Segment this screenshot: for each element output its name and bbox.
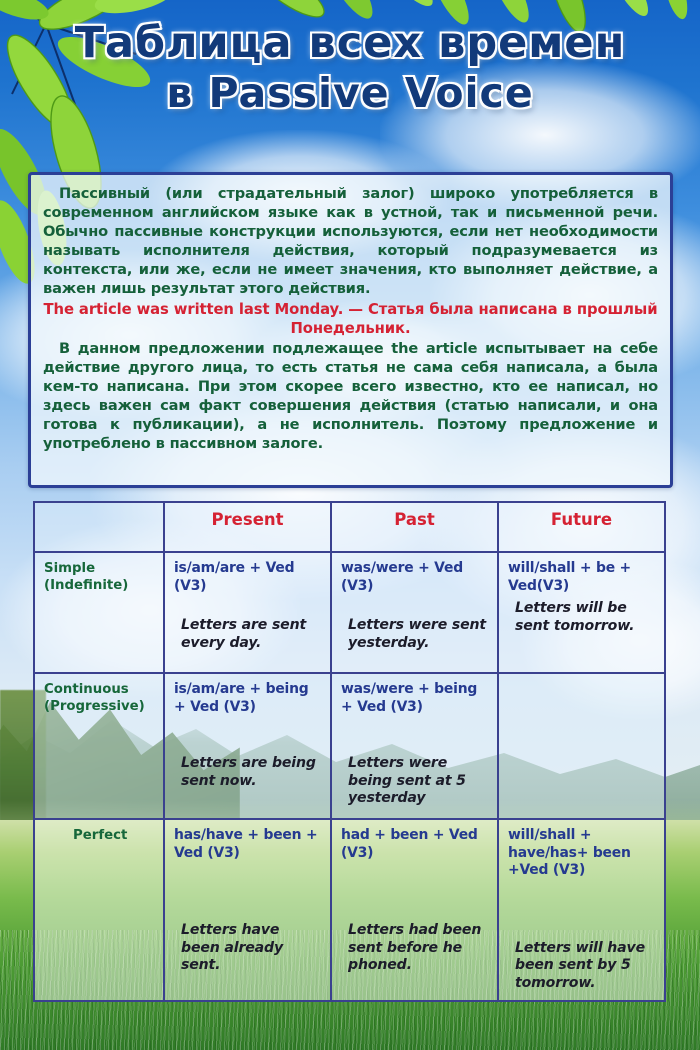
row-label-simple-line2: (Indefinite) bbox=[44, 577, 154, 594]
column-header-past: Past bbox=[331, 502, 498, 552]
cell-perfect-present: has/have + been + Ved (V3) Letters have … bbox=[164, 819, 331, 1001]
cell-simple-past: was/were + Ved (V3) Letters were sent ye… bbox=[331, 552, 498, 673]
title-line-2: в Passive Voice bbox=[0, 68, 700, 118]
cell-continuous-past: was/were + being + Ved (V3) Letters were… bbox=[331, 673, 498, 819]
row-label-continuous-line1: Continuous bbox=[44, 681, 154, 698]
row-label-perfect: Perfect bbox=[34, 819, 164, 1001]
example-simple-future: Letters will be sent tomorrow. bbox=[508, 600, 655, 635]
row-label-continuous: Continuous (Progressive) bbox=[34, 673, 164, 819]
cell-simple-future: will/shall + be + Ved(V3) Letters will b… bbox=[498, 552, 665, 673]
example-continuous-past: Letters were being sent at 5 yesterday bbox=[341, 755, 488, 808]
row-label-simple-line1: Simple bbox=[44, 560, 154, 577]
example-simple-past: Letters were sent yesterday. bbox=[341, 617, 488, 652]
example-perfect-present: Letters have been already sent. bbox=[174, 922, 321, 975]
cell-perfect-past: had + been + Ved (V3) Letters had been s… bbox=[331, 819, 498, 1001]
example-perfect-past: Letters had been sent before he phoned. bbox=[341, 922, 488, 975]
table-header-row: Present Past Future bbox=[34, 502, 665, 552]
formula-simple-present: is/am/are + Ved (V3) bbox=[174, 560, 321, 595]
formula-perfect-present: has/have + been + Ved (V3) bbox=[174, 827, 321, 862]
formula-perfect-future: will/shall + have/has+ been +Ved (V3) bbox=[508, 827, 655, 880]
formula-continuous-past: was/were + being + Ved (V3) bbox=[341, 681, 488, 716]
example-perfect-future: Letters will have been sent by 5 tomorro… bbox=[508, 940, 655, 993]
title-line-1: Таблица всех времен bbox=[0, 18, 700, 68]
row-label-simple: Simple (Indefinite) bbox=[34, 552, 164, 673]
table-row: Continuous (Progressive) is/am/are + bei… bbox=[34, 673, 665, 819]
poster-canvas: Таблица всех времен в Passive Voice Пасс… bbox=[0, 0, 700, 1050]
formula-continuous-present: is/am/are + being + Ved (V3) bbox=[174, 681, 321, 716]
formula-simple-past: was/were + Ved (V3) bbox=[341, 560, 488, 595]
intro-example-sentence: The article was written last Monday. — С… bbox=[43, 300, 658, 338]
passive-voice-tense-table: Present Past Future Simple (Indefinite) … bbox=[33, 501, 666, 1002]
column-header-future: Future bbox=[498, 502, 665, 552]
column-header-present: Present bbox=[164, 502, 331, 552]
intro-paragraph-2: В данном предложении подлежащее the arti… bbox=[43, 339, 658, 454]
table-corner-cell bbox=[34, 502, 164, 552]
cell-simple-present: is/am/are + Ved (V3) Letters are sent ev… bbox=[164, 552, 331, 673]
page-title: Таблица всех времен в Passive Voice bbox=[0, 18, 700, 118]
cell-continuous-future-empty bbox=[498, 673, 665, 819]
intro-paragraph-1: Пассивный (или страдательный залог) широ… bbox=[43, 184, 658, 299]
cell-continuous-present: is/am/are + being + Ved (V3) Letters are… bbox=[164, 673, 331, 819]
row-label-perfect-line1: Perfect bbox=[73, 827, 154, 844]
formula-simple-future: will/shall + be + Ved(V3) bbox=[508, 560, 655, 595]
table-row: Simple (Indefinite) is/am/are + Ved (V3)… bbox=[34, 552, 665, 673]
example-continuous-present: Letters are being sent now. bbox=[174, 755, 321, 790]
intro-text-panel: Пассивный (или страдательный залог) широ… bbox=[28, 172, 673, 488]
row-label-continuous-line2: (Progressive) bbox=[44, 698, 154, 715]
table-row: Perfect has/have + been + Ved (V3) Lette… bbox=[34, 819, 665, 1001]
cell-perfect-future: will/shall + have/has+ been +Ved (V3) Le… bbox=[498, 819, 665, 1001]
formula-perfect-past: had + been + Ved (V3) bbox=[341, 827, 488, 862]
example-simple-present: Letters are sent every day. bbox=[174, 617, 321, 652]
